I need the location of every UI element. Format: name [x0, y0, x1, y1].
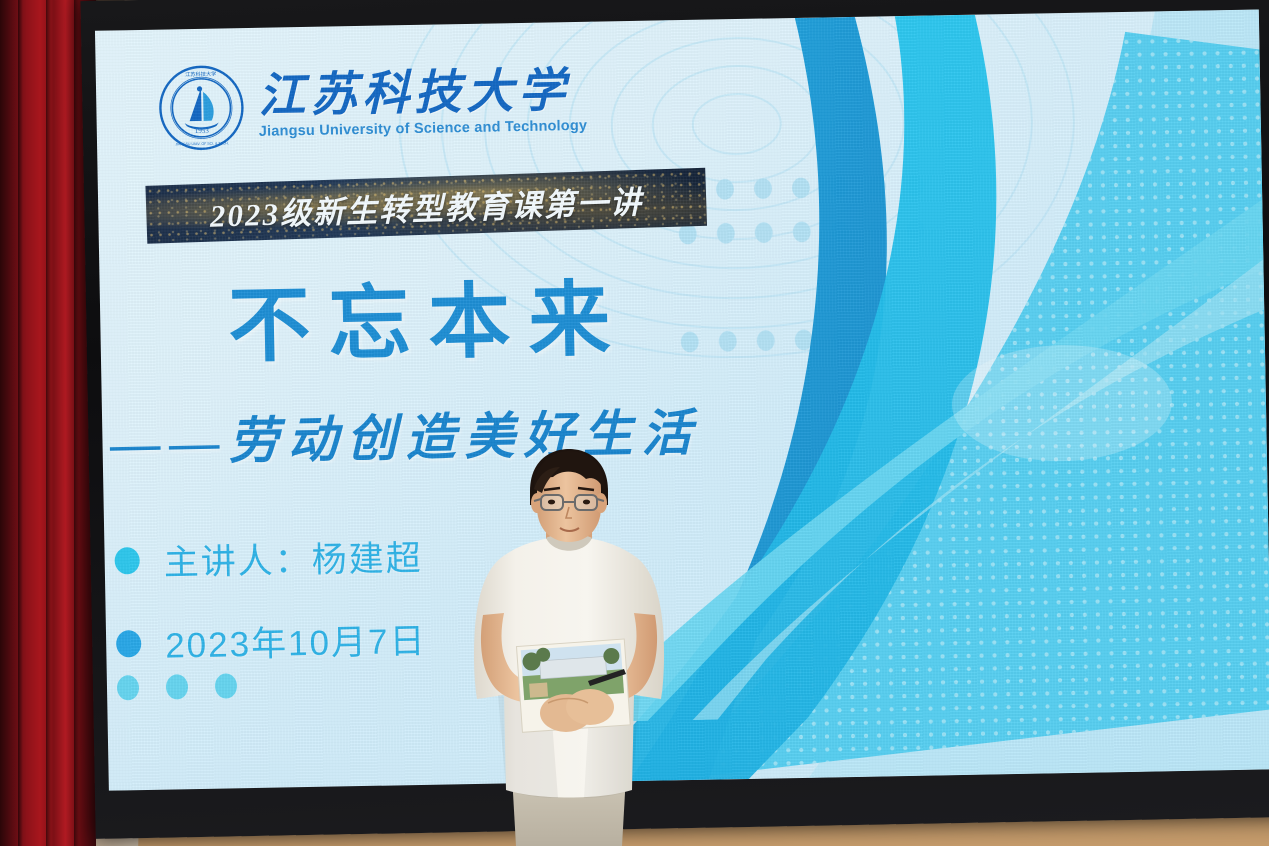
- svg-text:1953: 1953: [195, 127, 210, 135]
- red-curtain: [0, 0, 96, 846]
- date-label: 2023年10月7日: [165, 613, 427, 669]
- list-item: 2023年10月7日: [116, 613, 427, 670]
- university-seal-icon: 1953 江苏科技大学 JIANGSU UNIV. OF SCI. & TECH…: [158, 64, 246, 152]
- decorative-dot-icon: [215, 673, 237, 698]
- university-logo: 1953 江苏科技大学 JIANGSU UNIV. OF SCI. & TECH…: [158, 58, 588, 152]
- svg-text:JIANGSU UNIV. OF SCI. & TECH.: JIANGSU UNIV. OF SCI. & TECH.: [175, 141, 229, 146]
- decorative-dots: [117, 673, 237, 700]
- photo-scene: 1953 江苏科技大学 JIANGSU UNIV. OF SCI. & TECH…: [0, 0, 1269, 846]
- decorative-dot-icon: [117, 675, 139, 700]
- slide-title-main: 不忘本来: [228, 279, 629, 368]
- university-name-cn: 江苏科技大学: [258, 68, 587, 121]
- presenter-label: 主讲人：杨建超: [163, 530, 423, 586]
- course-banner-label: 2023级新生转型教育课第一讲: [209, 176, 643, 235]
- bullet-dot-icon: [116, 630, 141, 657]
- svg-text:江苏科技大学: 江苏科技大学: [185, 70, 216, 79]
- decorative-dot-icon: [166, 674, 188, 699]
- list-item: 主讲人：杨建超: [114, 530, 425, 587]
- bullet-dot-icon: [114, 547, 139, 574]
- presenter-person: 江苏科技大学: [438, 445, 700, 846]
